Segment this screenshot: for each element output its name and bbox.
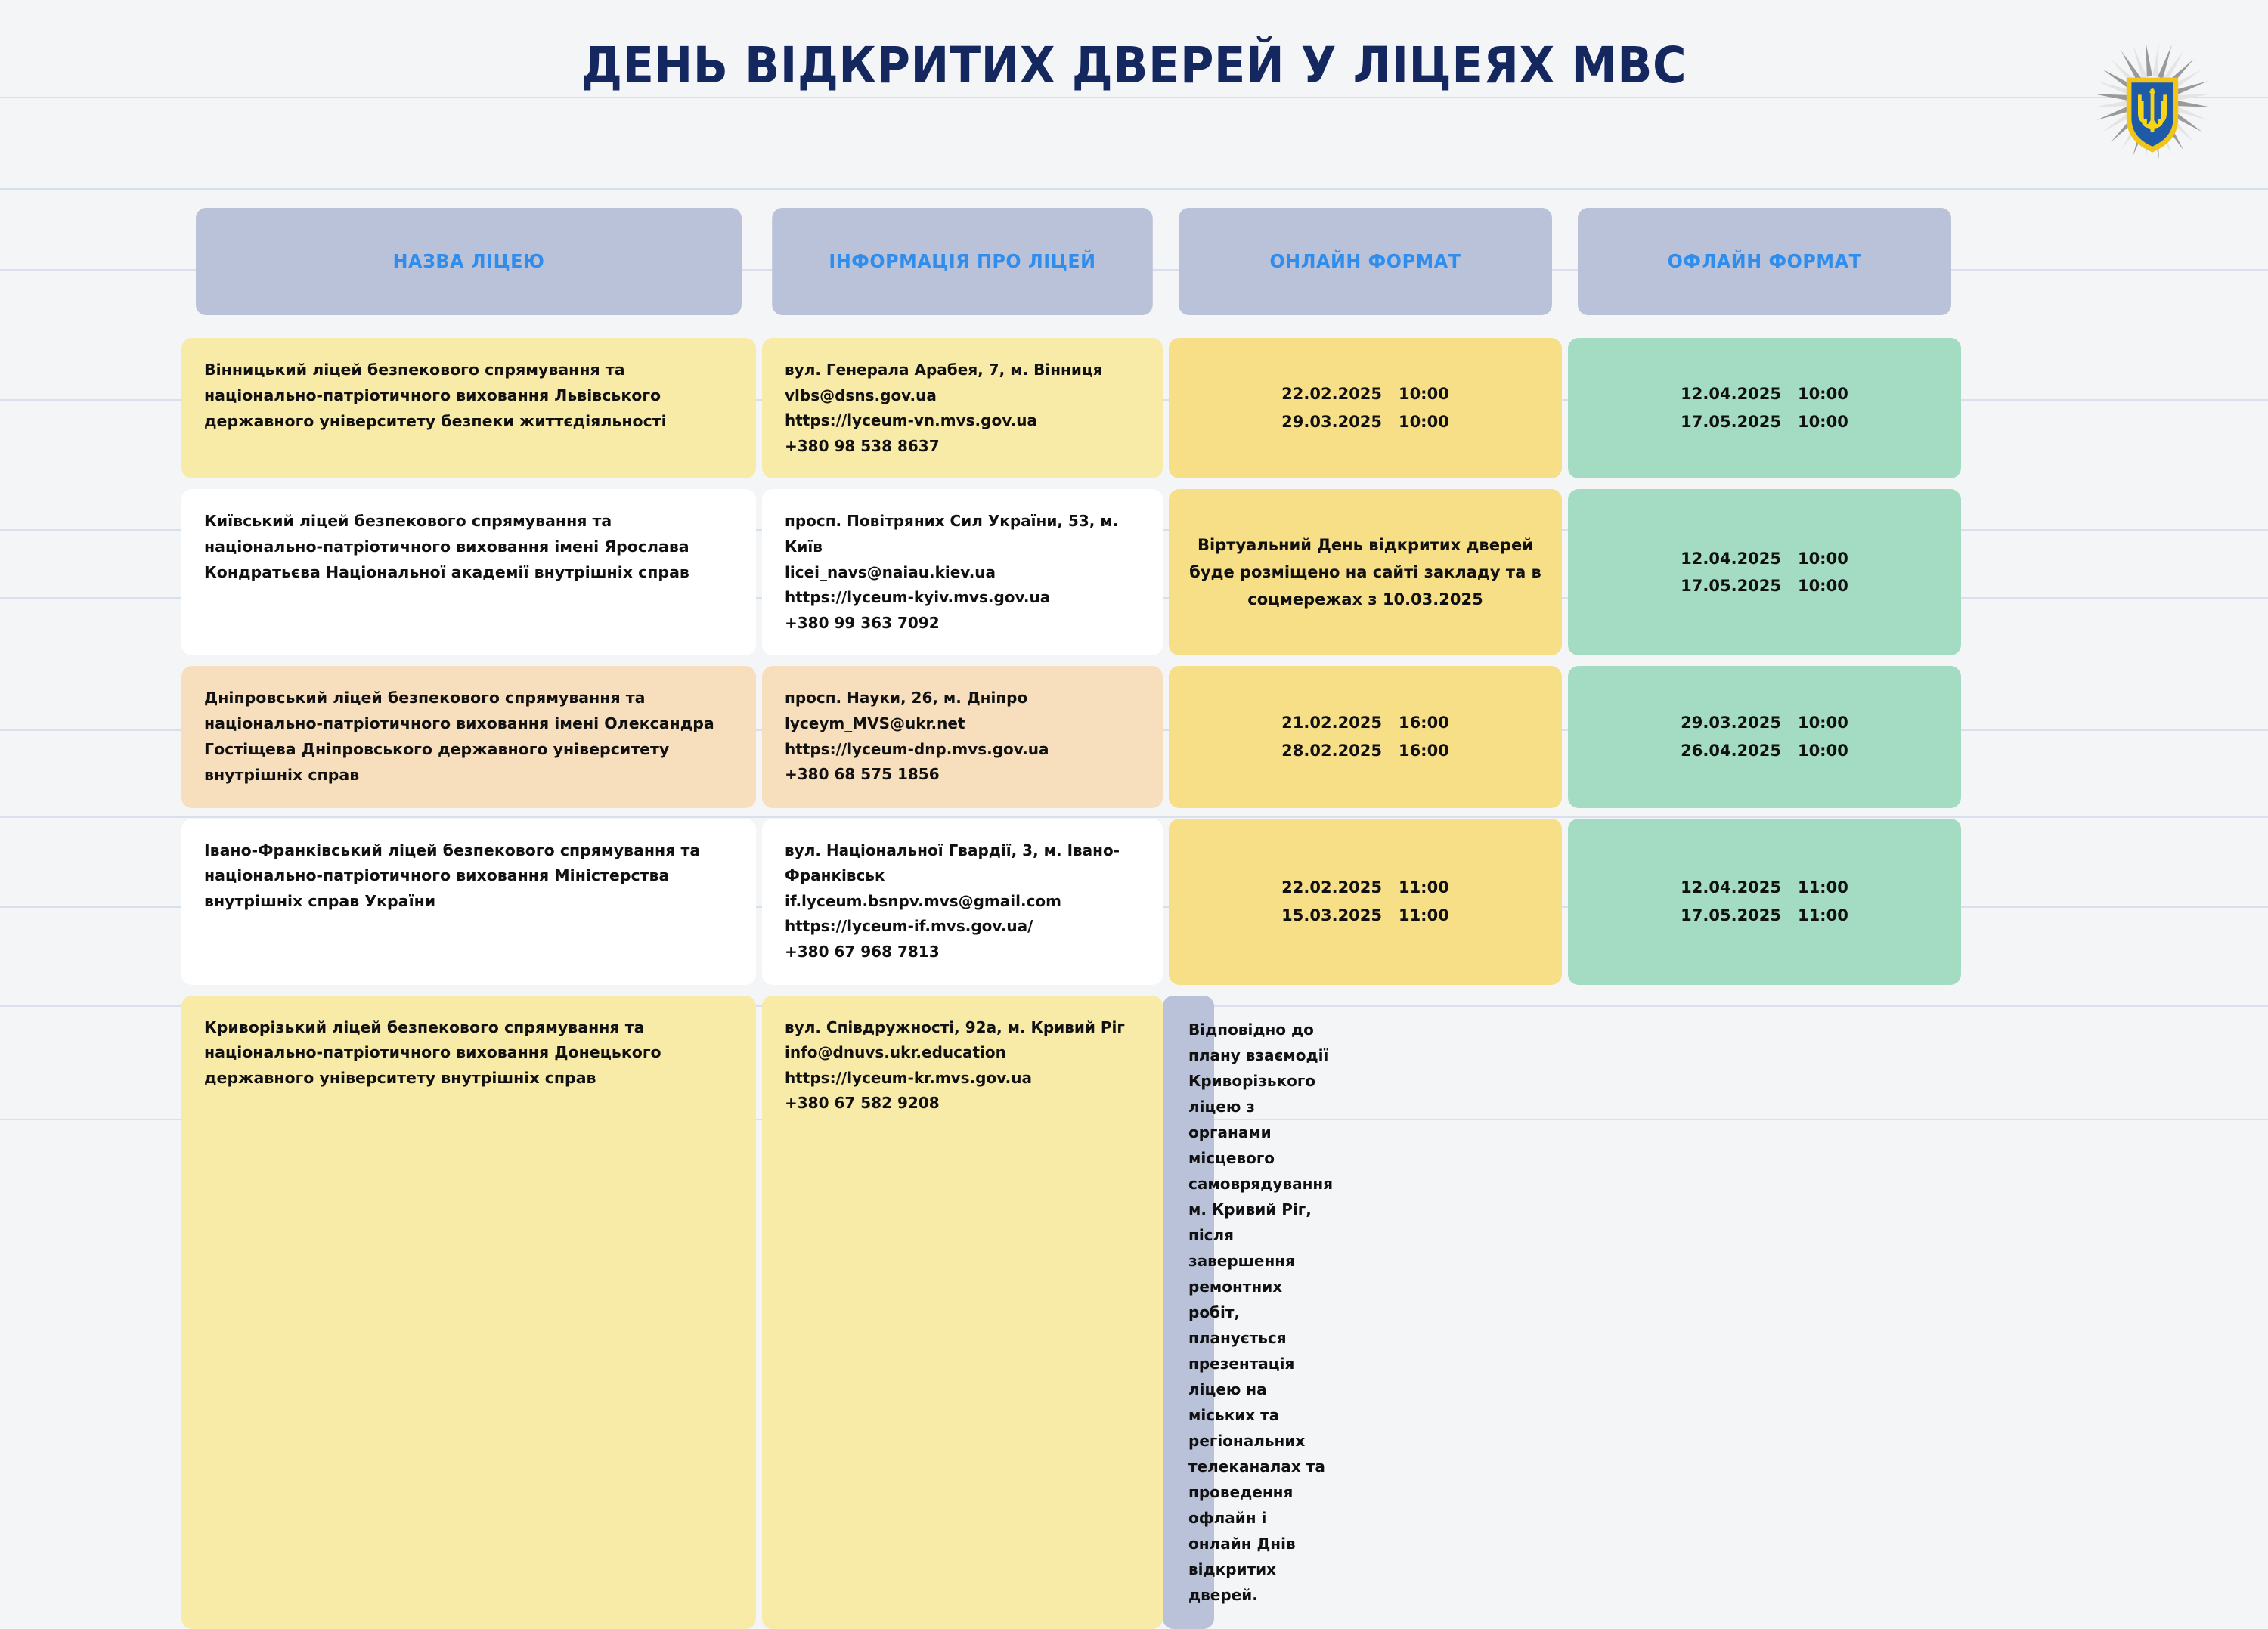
column-header-name: НАЗВА ЛІЦЕЮ [196,208,742,315]
column-header-online: ОНЛАЙН ФОРМАТ [1179,208,1552,315]
kryvyi-rih-note: Відповідно до плану взаємодії Криворізьк… [1163,996,1214,1629]
schedule-entry: 21.02.2025 16:00 [1281,709,1449,737]
schedule-entry: 17.05.2025 11:00 [1681,902,1848,930]
page-title: ДЕНЬ ВІДКРИТИХ ДВЕРЕЙ У ЛІЦЕЯХ МВС [91,36,2177,94]
lyceum-email[interactable]: if.lyceum.bsnpv.mvs@gmail.com [785,889,1140,915]
lyceum-info: вул. Національної Гвардії, 3, м. Івано-Ф… [762,819,1163,985]
online-schedule: Віртуальний День відкритих дверей буде р… [1169,489,1562,655]
lyceum-address: просп. Науки, 26, м. Дніпро [785,686,1140,711]
offline-schedule: 12.04.2025 10:00 17.05.2025 10:00 [1568,489,1961,655]
online-schedule: 22.02.2025 11:00 15.03.2025 11:00 [1169,819,1562,985]
schedule-entry: 12.04.2025 11:00 [1681,874,1848,902]
schedule-entry: 12.04.2025 10:00 [1681,545,1848,573]
online-schedule: 21.02.2025 16:00 28.02.2025 16:00 [1169,666,1562,807]
lyceum-website[interactable]: https://lyceum-dnp.mvs.gov.ua [785,737,1140,763]
lyceum-name: Дніпровський ліцей безпекового спрямуван… [181,666,756,807]
schedule-entry: 17.05.2025 10:00 [1681,408,1848,436]
lyceum-website[interactable]: https://lyceum-vn.mvs.gov.ua [785,408,1140,434]
schedule-entry: 28.02.2025 16:00 [1281,737,1449,765]
lyceum-phone[interactable]: +380 67 968 7813 [785,940,1140,965]
schedule-entry: 29.03.2025 10:00 [1681,709,1848,737]
schedule-entry: 26.04.2025 10:00 [1681,737,1848,765]
table-row: Дніпровський ліцей безпекового спрямуван… [181,666,2117,807]
lyceum-phone[interactable]: +380 67 582 9208 [785,1091,1140,1116]
column-header-info: ІНФОРМАЦІЯ ПРО ЛІЦЕЙ [772,208,1153,315]
lyceum-info: вул. Генерала Арабея, 7, м. Вінниця vlbs… [762,338,1163,478]
lyceum-website[interactable]: https://lyceum-if.mvs.gov.ua/ [785,914,1140,940]
table-row: Криворізький ліцей безпекового спрямуван… [181,996,2117,1629]
lyceum-address: вул. Національної Гвардії, 3, м. Івано-Ф… [785,838,1140,889]
lyceum-email[interactable]: licei_navs@naiau.kiev.ua [785,560,1140,586]
schedule-entry: 12.04.2025 10:00 [1681,380,1848,408]
schedule-entry: 22.02.2025 10:00 [1281,380,1449,408]
lyceum-info: просп. Науки, 26, м. Дніпро lyceym_MVS@u… [762,666,1163,807]
lyceum-email[interactable]: info@dnuvs.ukr.education [785,1040,1140,1066]
lyceum-schedule-table: НАЗВА ЛІЦЕЮ ІНФОРМАЦІЯ ПРО ЛІЦЕЙ ОНЛАЙН … [181,208,2117,1629]
online-schedule: 22.02.2025 10:00 29.03.2025 10:00 [1169,338,1562,478]
lyceum-email[interactable]: vlbs@dsns.gov.ua [785,383,1140,409]
lyceum-address: вул. Співдружності, 92а, м. Кривий Ріг [785,1015,1140,1041]
lyceum-website[interactable]: https://lyceum-kr.mvs.gov.ua [785,1066,1140,1092]
lyceum-address: просп. Повітряних Сил України, 53, м. Ки… [785,509,1140,559]
lyceum-phone[interactable]: +380 99 363 7092 [785,611,1140,636]
lyceum-name: Вінницький ліцей безпекового спрямування… [181,338,756,478]
virtual-open-day-note: Віртуальний День відкритих дверей буде р… [1182,531,1548,613]
schedule-entry: 17.05.2025 10:00 [1681,572,1848,600]
lyceum-website[interactable]: https://lyceum-kyiv.mvs.gov.ua [785,585,1140,611]
lyceum-name: Криворізький ліцей безпекового спрямуван… [181,996,756,1629]
lyceum-email[interactable]: lyceym_MVS@ukr.net [785,711,1140,737]
mvs-ukraine-emblem-icon [2081,29,2224,172]
offline-schedule: 12.04.2025 10:00 17.05.2025 10:00 [1568,338,1961,478]
lyceum-info: вул. Співдружності, 92а, м. Кривий Ріг i… [762,996,1163,1629]
offline-schedule: 12.04.2025 11:00 17.05.2025 11:00 [1568,819,1961,985]
schedule-entry: 29.03.2025 10:00 [1281,408,1449,436]
column-header-offline: ОФЛАЙН ФОРМАТ [1578,208,1951,315]
lyceum-name: Київський ліцей безпекового спрямування … [181,489,756,655]
table-row: Івано-Франківський ліцей безпекового спр… [181,819,2117,985]
offline-schedule: 29.03.2025 10:00 26.04.2025 10:00 [1568,666,1961,807]
lyceum-address: вул. Генерала Арабея, 7, м. Вінниця [785,358,1140,383]
lyceum-info: просп. Повітряних Сил України, 53, м. Ки… [762,489,1163,655]
table-header-row: НАЗВА ЛІЦЕЮ ІНФОРМАЦІЯ ПРО ЛІЦЕЙ ОНЛАЙН … [181,208,2117,315]
schedule-entry: 22.02.2025 11:00 [1281,874,1449,902]
lyceum-phone[interactable]: +380 98 538 8637 [785,434,1140,460]
schedule-entry: 15.03.2025 11:00 [1281,902,1449,930]
lyceum-name: Івано-Франківський ліцей безпекового спр… [181,819,756,985]
table-row: Київський ліцей безпекового спрямування … [181,489,2117,655]
lyceum-phone[interactable]: +380 68 575 1856 [785,762,1140,788]
table-row: Вінницький ліцей безпекового спрямування… [181,338,2117,478]
